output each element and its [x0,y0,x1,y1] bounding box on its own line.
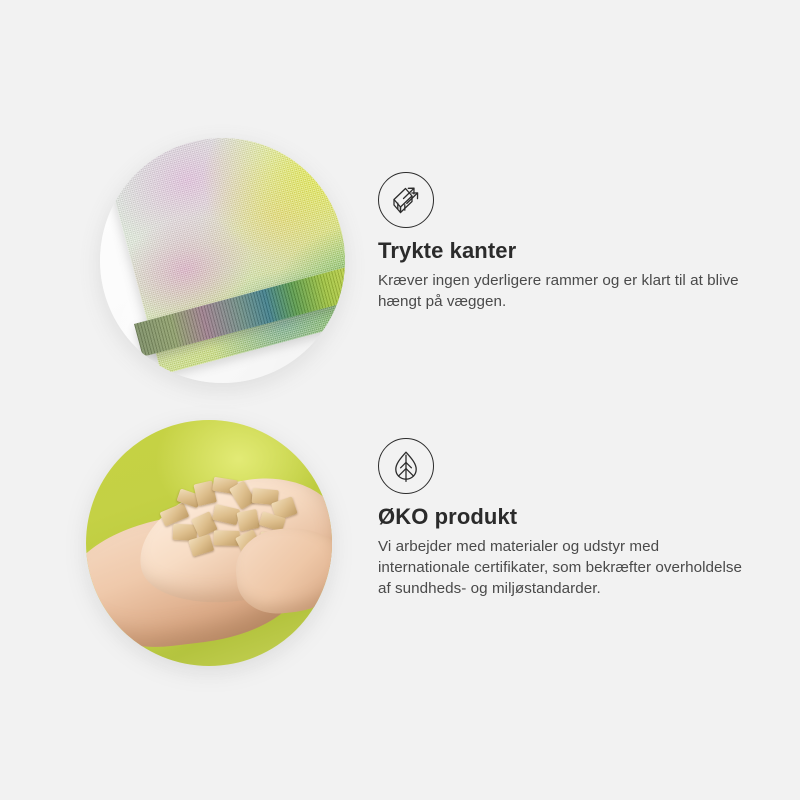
eco-photo-background [86,420,332,666]
canvas-photo-background [100,138,345,383]
feature-block-printed-edges: Trykte kanter Kræver ingen yderligere ra… [0,120,800,380]
leaf-icon [378,438,434,494]
wood-chip [237,509,260,531]
feature-list-page: Trykte kanter Kræver ingen yderligere ra… [0,0,800,800]
feature-2-title: ØKO produkt [378,504,517,530]
feature-block-eco-product: ØKO produkt Vi arbejder med materialer o… [0,410,800,670]
feature-2-description: Vi arbejder med materialer og udstyr med… [378,536,750,599]
feature-1-title: Trykte kanter [378,238,516,264]
canvas-print-corner-photo [100,138,345,383]
canvas-stretched-edge-icon [378,172,434,228]
feature-1-description: Kræver ingen yderligere rammer og er kla… [378,270,750,312]
wood-chip [212,504,240,525]
hands-holding-wood-chips-photo [86,420,332,666]
